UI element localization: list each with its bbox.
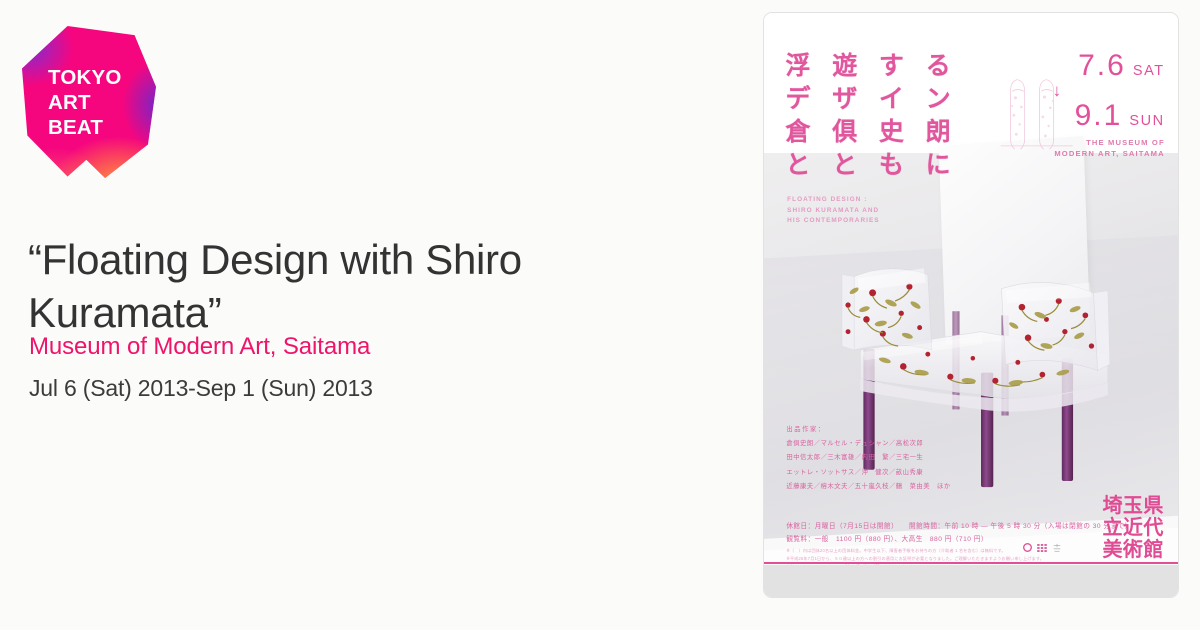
logo-line-art: ART xyxy=(48,90,156,115)
poster-start-date-row: 7.6 SAT xyxy=(991,50,1165,82)
poster-end-date: 9.1 xyxy=(1075,100,1123,132)
poster-date-block: 7.6 SAT ↓ 9.1 SUN THE MUSEUM OF MODERN A… xyxy=(991,50,1165,159)
page-title: “Floating Design with Shiro Kuramata” xyxy=(28,234,688,340)
poster-end-date-row: 9.1 SUN xyxy=(991,100,1165,132)
poster-hours: 休館日：月曜日（7月15日は開館） 開館時間：午前 10 時 — 午後 5 時 … xyxy=(786,520,1084,530)
poster-start-date: 7.6 xyxy=(1078,50,1126,82)
poster-pink-bar xyxy=(764,562,1178,565)
venue-link[interactable]: Museum of Modern Art, Saitama xyxy=(29,333,370,361)
exhibition-dates: Jul 6 (Sat) 2013-Sep 1 (Sun) 2013 xyxy=(29,375,373,402)
logo-line-tokyo: TOKYO xyxy=(48,65,156,90)
date-arrow-icon: ↓ xyxy=(991,83,1123,99)
poster-artists-list: 倉俱史朗／マルセル・デュシャン／高松次郎 田中信太郎／三木富雄／内田 繁／三宅一… xyxy=(786,437,950,494)
sponsor-marks xyxy=(1023,543,1062,553)
poster-end-dow: SUN xyxy=(1129,113,1164,129)
tokyo-art-beat-logo[interactable]: TOKYO ART BEAT xyxy=(22,26,156,178)
logo-line-beat: BEAT xyxy=(48,115,156,140)
logo-wordmark: TOKYO ART BEAT xyxy=(22,26,156,178)
poster-artists-heading: 出品作家： xyxy=(786,424,825,433)
listing-panel: TOKYO ART BEAT “Floating Design with Shi… xyxy=(0,0,760,630)
poster-venue-en: THE MUSEUM OF MODERN ART, SAITAMA xyxy=(991,137,1165,160)
poster-footer-band xyxy=(764,565,1178,597)
poster-headline-jp: 浮 遊 す る デ ザ イ ン 倉 俱 史 朗 と と も に xyxy=(786,49,958,181)
sponsor-circle-icon xyxy=(1023,543,1032,552)
sponsor-kanji-mark-icon xyxy=(1052,543,1062,553)
poster-start-dow: SAT xyxy=(1133,63,1165,79)
exhibition-poster-card[interactable]: 浮 遊 す る デ ザ イ ン 倉 俱 史 朗 と と も に FLOATING… xyxy=(763,12,1179,598)
museum-logo: 埼玉県 立近代 美術館 xyxy=(1102,494,1164,561)
poster-image: 浮 遊 す る デ ザ イ ン 倉 俱 史 朗 と と も に FLOATING… xyxy=(764,13,1178,597)
sponsor-grid-icon xyxy=(1037,544,1047,552)
